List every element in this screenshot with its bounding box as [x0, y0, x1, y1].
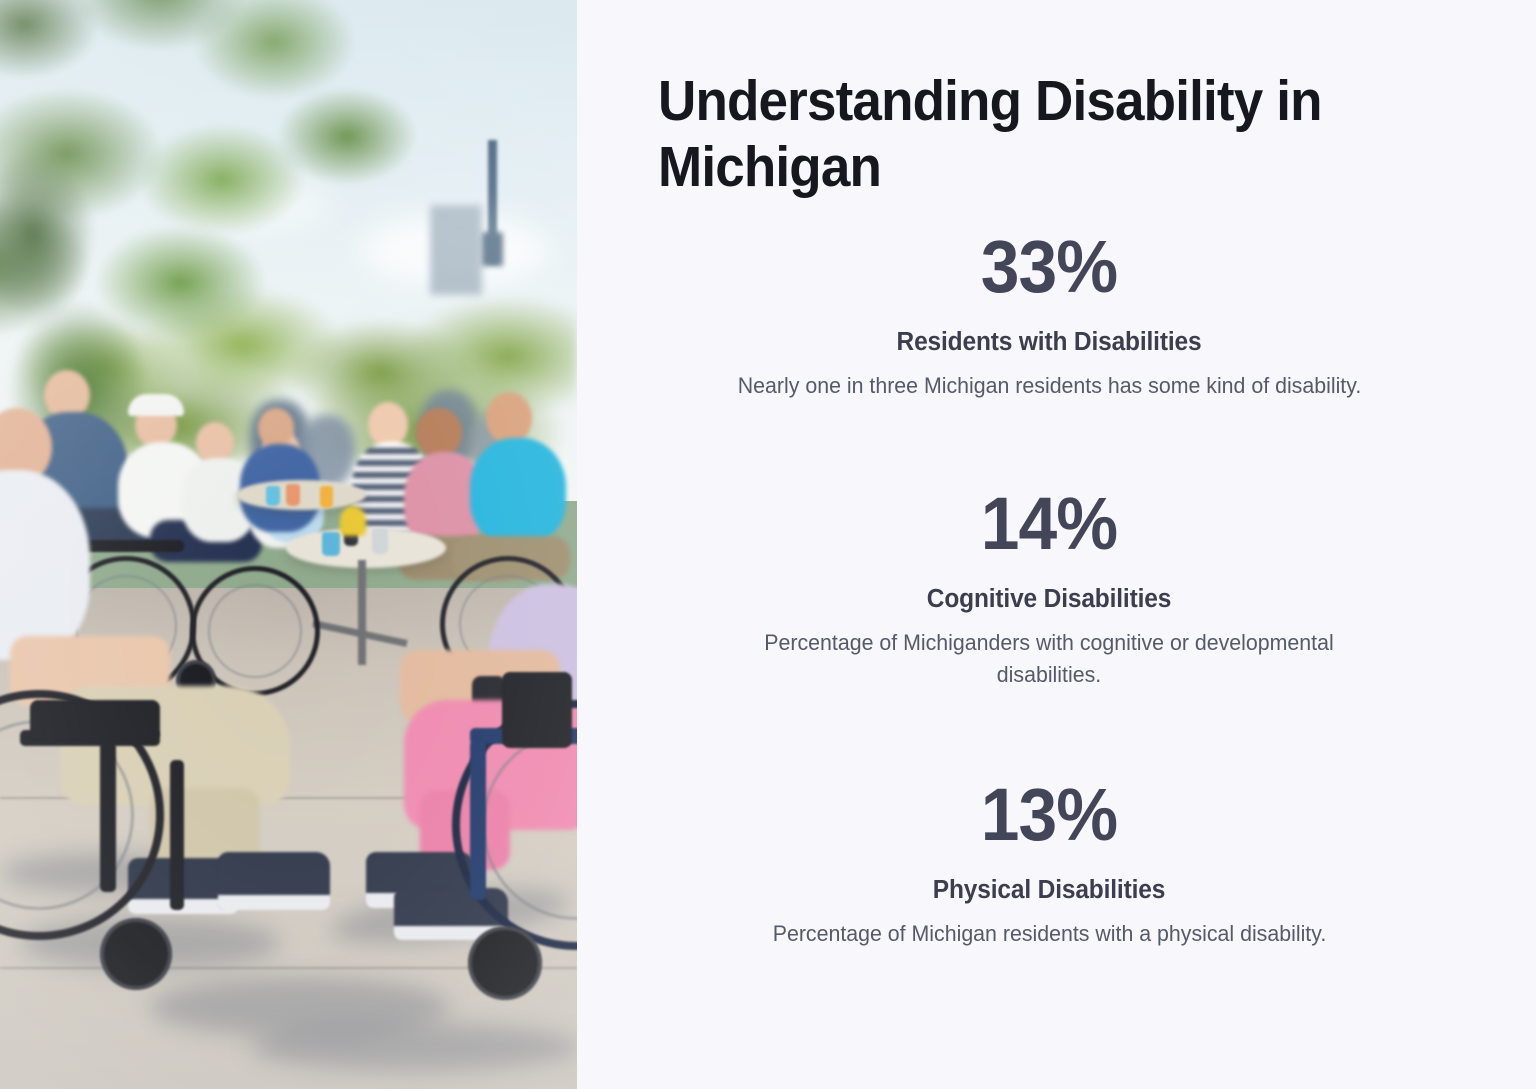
- stat-value: 13%: [681, 778, 1416, 852]
- stat-value: 14%: [681, 487, 1416, 561]
- stat-block-cognitive: 14% Cognitive Disabilities Percentage of…: [658, 487, 1440, 689]
- wheel-spokes: [208, 584, 302, 678]
- stat-description: Percentage of Michigan residents with a …: [688, 918, 1411, 949]
- wheelchair-frame: [470, 740, 486, 900]
- wheelchair-seat-cushion: [30, 700, 160, 740]
- wheel-spokes: [482, 730, 577, 920]
- stats-list: 33% Residents with Disabilities Nearly o…: [658, 230, 1440, 949]
- stat-block-residents: 33% Residents with Disabilities Nearly o…: [658, 230, 1440, 401]
- wheelchair-caster-foreground: [100, 918, 172, 990]
- stat-label: Physical Disabilities: [674, 876, 1425, 905]
- stat-label: Cognitive Disabilities: [674, 585, 1425, 614]
- person-head: [416, 408, 462, 458]
- stat-description: Nearly one in three Michigan residents h…: [688, 370, 1411, 401]
- stat-label: Residents with Disabilities: [674, 328, 1425, 357]
- page-title: Understanding Disability in Michigan: [658, 68, 1385, 200]
- wheelchair-frame: [100, 742, 116, 892]
- cup: [286, 484, 300, 506]
- wheelchair-frame: [170, 760, 184, 910]
- stat-description: Percentage of Michiganders with cognitiv…: [710, 627, 1389, 689]
- infographic-root: Understanding Disability in Michigan 33%…: [0, 0, 1536, 1089]
- person-head: [258, 408, 294, 448]
- park-community-photo: [0, 0, 577, 1089]
- stat-value: 33%: [681, 230, 1416, 304]
- person-torso: [470, 438, 566, 544]
- photo-scene: [0, 0, 577, 1089]
- cup: [320, 486, 333, 508]
- shoe: [218, 852, 330, 910]
- cup: [372, 528, 388, 554]
- stat-block-physical: 13% Physical Disabilities Percentage of …: [658, 778, 1440, 949]
- cup: [322, 532, 340, 556]
- table-leg: [358, 560, 366, 665]
- baseball-cap: [128, 394, 184, 416]
- wheelchair-caster-foreground: [468, 926, 542, 1000]
- cafe-table: [286, 528, 446, 568]
- cup: [266, 486, 280, 506]
- flower-vase: [340, 506, 366, 536]
- wheelchair-backrest: [502, 672, 572, 748]
- ground-shadow: [250, 1023, 577, 1071]
- content-pane: Understanding Disability in Michigan 33%…: [577, 0, 1536, 1089]
- person-head: [486, 392, 532, 444]
- picnic-table: [236, 480, 366, 510]
